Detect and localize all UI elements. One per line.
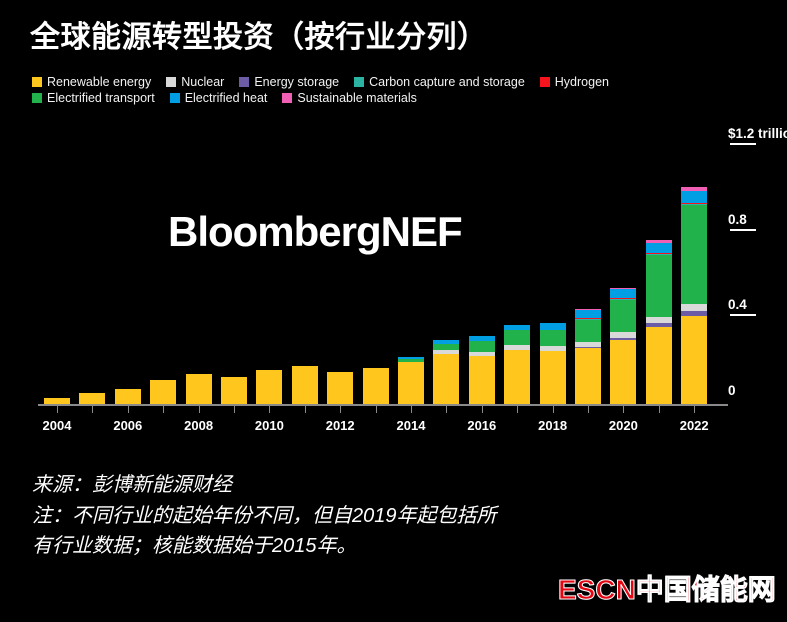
note-line-2: 有行业数据；核能数据始于2015年。 — [32, 531, 732, 561]
x-axis-label-2012: 2012 — [326, 418, 355, 433]
x-tick — [92, 406, 93, 413]
bar-2018[interactable] — [540, 323, 566, 405]
bar-segment-renewable-energy — [292, 366, 318, 405]
plot-area: BloombergNEF 00.40.8$1.2 trillion 200420… — [0, 0, 787, 440]
bar-2020[interactable] — [610, 288, 636, 405]
source-text: 来源：彭博新能源财经 — [32, 470, 762, 501]
x-tick — [694, 406, 695, 413]
bar-segment-electrified-transport — [646, 255, 672, 317]
x-axis-label-2014: 2014 — [397, 418, 426, 433]
bar-2013[interactable] — [363, 368, 389, 405]
bar-segment-renewable-energy — [363, 368, 389, 405]
bar-segment-renewable-energy — [504, 350, 530, 405]
bar-2017[interactable] — [504, 325, 530, 405]
bar-segment-renewable-energy — [575, 348, 601, 405]
bar-2015[interactable] — [433, 340, 459, 405]
y-tick-rule — [730, 143, 756, 145]
escn-logo: ESCN中国储能网 — [558, 568, 776, 608]
x-axis-label-2022: 2022 — [680, 418, 709, 433]
bar-segment-electrified-heat — [681, 191, 707, 203]
bar-segment-electrified-transport — [681, 205, 707, 305]
x-tick — [411, 406, 412, 413]
bar-segment-renewable-energy — [256, 370, 282, 405]
bar-segment-renewable-energy — [115, 389, 141, 405]
bar-segment-renewable-energy — [221, 377, 247, 405]
bar-container — [38, 0, 710, 440]
x-tick — [340, 406, 341, 413]
y-tick-rule — [730, 229, 756, 231]
bar-2011[interactable] — [292, 366, 318, 405]
bar-2009[interactable] — [221, 377, 247, 405]
x-axis-label-2008: 2008 — [184, 418, 213, 433]
bar-segment-renewable-energy — [186, 374, 212, 405]
x-axis-label-2020: 2020 — [609, 418, 638, 433]
bar-segment-renewable-energy — [681, 316, 707, 405]
x-tick — [376, 406, 377, 413]
bar-segment-renewable-energy — [433, 354, 459, 405]
bar-2006[interactable] — [115, 389, 141, 405]
x-tick — [234, 406, 235, 413]
y-axis-label-1-2: $1.2 trillion — [728, 126, 787, 141]
x-tick — [517, 406, 518, 413]
y-tick-rule — [730, 314, 756, 316]
bar-2010[interactable] — [256, 370, 282, 405]
x-tick — [482, 406, 483, 413]
y-axis-label-0: 0 — [728, 383, 736, 398]
x-tick — [623, 406, 624, 413]
bar-segment-electrified-transport — [469, 341, 495, 353]
bar-2022[interactable] — [681, 187, 707, 405]
x-tick — [588, 406, 589, 413]
bar-2016[interactable] — [469, 336, 495, 405]
bar-segment-renewable-energy — [646, 327, 672, 405]
bar-segment-renewable-energy — [398, 362, 424, 405]
bar-segment-electrified-heat — [575, 310, 601, 317]
x-axis-label-2016: 2016 — [467, 418, 496, 433]
bar-segment-electrified-transport — [540, 330, 566, 347]
bar-segment-electrified-heat — [646, 243, 672, 253]
x-axis-label-2006: 2006 — [113, 418, 142, 433]
bar-segment-electrified-heat — [610, 289, 636, 298]
bar-2014[interactable] — [398, 357, 424, 405]
x-tick — [659, 406, 660, 413]
x-axis-line — [38, 404, 728, 406]
bar-segment-electrified-transport — [575, 320, 601, 342]
x-tick — [128, 406, 129, 413]
x-tick — [553, 406, 554, 413]
x-tick — [163, 406, 164, 413]
bar-segment-electrified-transport — [610, 300, 636, 332]
bar-2007[interactable] — [150, 380, 176, 405]
bar-segment-renewable-energy — [469, 356, 495, 405]
x-tick — [446, 406, 447, 413]
x-tick — [199, 406, 200, 413]
y-axis-label-0-8: 0.8 — [728, 212, 747, 227]
y-axis-label-0-4: 0.4 — [728, 297, 747, 312]
bar-segment-renewable-energy — [610, 340, 636, 405]
bar-segment-renewable-energy — [540, 351, 566, 405]
x-tick — [57, 406, 58, 413]
x-axis-label-2010: 2010 — [255, 418, 284, 433]
bar-2021[interactable] — [646, 240, 672, 405]
note-line-1: 注：不同行业的起始年份不同，但自2019年起包括所 — [32, 501, 732, 531]
x-tick — [269, 406, 270, 413]
x-axis-label-2018: 2018 — [538, 418, 567, 433]
bar-segment-renewable-energy — [327, 372, 353, 405]
bar-segment-electrified-transport — [504, 330, 530, 345]
bar-2019[interactable] — [575, 309, 601, 405]
chart-page: 全球能源转型投资（按行业分列） Renewable energyNuclearE… — [0, 0, 787, 622]
bar-2008[interactable] — [186, 374, 212, 405]
x-tick — [305, 406, 306, 413]
bar-segment-renewable-energy — [150, 380, 176, 405]
chart-footer: 来源：彭博新能源财经 注：不同行业的起始年份不同，但自2019年起包括所 有行业… — [32, 470, 762, 561]
x-axis-label-2004: 2004 — [43, 418, 72, 433]
bar-2012[interactable] — [327, 372, 353, 405]
